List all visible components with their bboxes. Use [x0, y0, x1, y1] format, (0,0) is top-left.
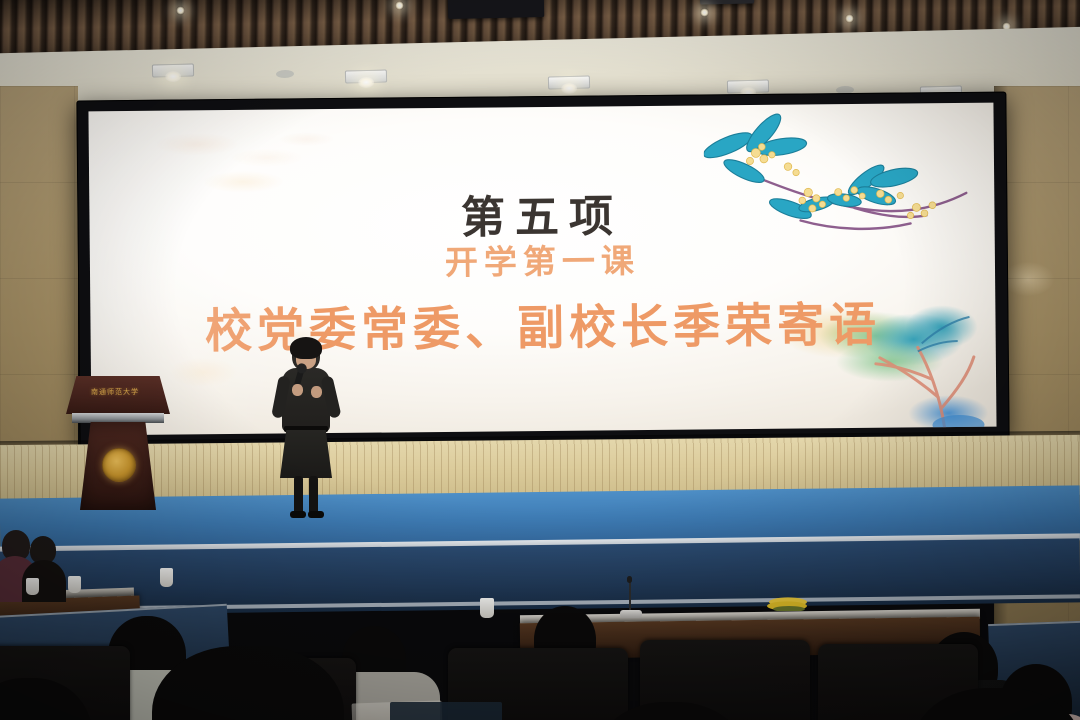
speaker-left-hand: [292, 384, 303, 396]
ceiling-spot-3: [700, 8, 709, 17]
slide-subtitle: 开学第一课: [90, 231, 995, 288]
projection-screen-frame: 第五项 开学第一课 校党委常委、副校长季荣寄语: [76, 92, 1009, 449]
ceiling-speaker-box-1: [448, 0, 544, 19]
paper-cup: [160, 568, 173, 587]
ceiling-spot-4: [845, 14, 854, 23]
podium-nameplate: 南通师范大学: [82, 387, 148, 398]
audience-foreground: [0, 420, 1080, 720]
downlight-4: [727, 79, 769, 93]
slide-headline: 校党委常委、副校长季荣寄语: [90, 285, 996, 363]
speaker-right-hand: [311, 386, 322, 398]
ceiling-spot-1: [176, 6, 185, 15]
auditorium-photo: 第五项 开学第一课 校党委常委、副校长季荣寄语 南通师范大学: [0, 0, 1080, 720]
gooseneck-mic-neck: [629, 582, 631, 612]
gooseneck-microphone-base: [620, 610, 642, 618]
laptop-screen-glint: [390, 702, 502, 720]
paper-cup: [68, 576, 81, 593]
bananas-icon: [765, 596, 811, 611]
downlight-2: [345, 69, 387, 83]
paper-cup: [26, 578, 39, 595]
projection-screen: 第五项 开学第一课 校党委常委、副校长季荣寄语: [88, 103, 996, 436]
downlight-3: [548, 75, 590, 89]
wall-light-reflection: [1002, 262, 1054, 296]
downlight-1: [152, 63, 194, 77]
gooseneck-mic-head: [627, 576, 632, 583]
ceiling-spot-2: [395, 1, 404, 10]
speaker-hair: [290, 337, 322, 359]
paper-cup: [480, 598, 494, 618]
